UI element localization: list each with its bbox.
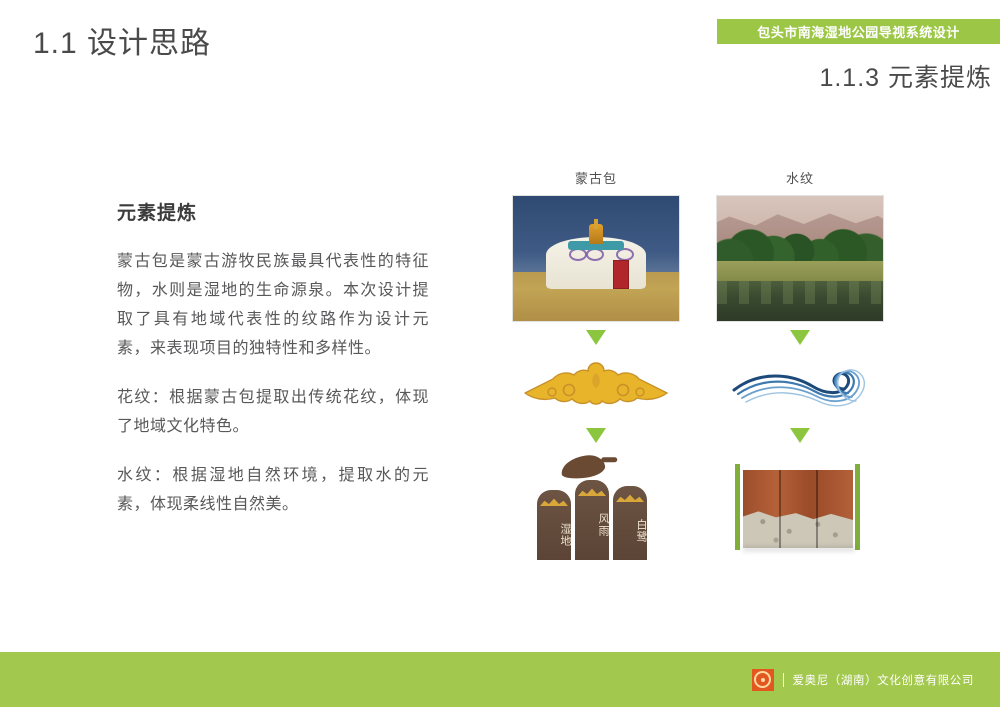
green-side-rail — [855, 464, 860, 550]
yurt-door — [613, 260, 629, 289]
sign-post-group: 湿地 风雨 白鹭 — [531, 460, 661, 560]
cloud-scroll-motif — [512, 352, 680, 420]
footer-divider — [783, 673, 784, 687]
bird-sculpture-icon — [560, 453, 607, 481]
post-label: 风雨 — [575, 502, 609, 548]
footer-content: 爱奥尼（湖南）文化创意有限公司 — [752, 669, 975, 691]
sign-post: 风雨 — [575, 480, 609, 560]
material-block-group — [725, 460, 875, 560]
yurt-finial — [594, 219, 598, 229]
section-subtitle: 1.1.3 元素提炼 — [600, 58, 992, 94]
post-label: 湿地 — [537, 512, 571, 558]
wood-panel — [743, 470, 853, 548]
column-label: 水纹 — [716, 168, 884, 187]
down-triangle-arrow — [512, 420, 680, 450]
sign-post: 白鹭 — [613, 486, 647, 560]
post-label: 白鹭 — [613, 508, 647, 554]
footer-company-name: 爱奥尼（湖南）文化创意有限公司 — [793, 672, 975, 688]
project-tag-label: 包头市南海湿地公园导视系统设计 — [757, 22, 960, 41]
project-tag-banner: 包头市南海湿地公园导视系统设计 — [717, 19, 1000, 44]
wave-icon — [720, 356, 880, 416]
body-paragraph: 花纹：根据蒙古包提取出传统花纹，体现了地域文化特色。 — [117, 383, 429, 441]
down-triangle-arrow — [512, 322, 680, 352]
sign-post: 湿地 — [537, 490, 571, 560]
seal-ring-icon — [754, 671, 771, 688]
left-heading: 元素提炼 — [117, 198, 429, 225]
page-title: 1.1 设计思路 — [33, 18, 211, 62]
column-label: 蒙古包 — [512, 168, 680, 187]
element-column-water: 水纹 — [716, 168, 884, 560]
panel-seam — [779, 470, 781, 548]
water-reflection — [717, 281, 883, 304]
stone-base — [743, 504, 853, 548]
aoni-seal-logo — [752, 669, 774, 691]
material-block-application — [716, 450, 884, 560]
post-cloud-cap — [540, 497, 568, 506]
post-cloud-cap — [578, 487, 606, 496]
down-triangle-arrow — [716, 420, 884, 450]
body-paragraph: 蒙古包是蒙古游牧民族最具代表性的特征物，水则是湿地的生命源泉。本次设计提取了具有… — [117, 247, 429, 363]
body-paragraph: 水纹：根据湿地自然环境，提取水的元素，体现柔线性自然美。 — [117, 461, 429, 519]
wave-motif — [716, 352, 884, 420]
wetland-photo — [716, 195, 884, 322]
cloud-scroll-icon — [521, 357, 671, 415]
yurt-photo — [512, 195, 680, 322]
reed-bank — [717, 261, 883, 281]
sign-post-application: 湿地 风雨 白鹭 — [512, 450, 680, 560]
block-shadow — [743, 546, 855, 552]
green-side-rail — [735, 464, 740, 550]
down-triangle-arrow — [716, 322, 884, 352]
left-text-column: 元素提炼 蒙古包是蒙古游牧民族最具代表性的特征物，水则是湿地的生命源泉。本次设计… — [117, 198, 429, 519]
yurt-ornament — [586, 248, 604, 261]
panel-seam — [816, 470, 818, 548]
slide-root: 1.1 设计思路 包头市南海湿地公园导视系统设计 1.1.3 元素提炼 元素提炼… — [0, 0, 1000, 707]
post-cloud-cap — [616, 493, 644, 502]
footer-band: 爱奥尼（湖南）文化创意有限公司 — [0, 652, 1000, 707]
element-column-yurt: 蒙古包 — [512, 168, 680, 560]
